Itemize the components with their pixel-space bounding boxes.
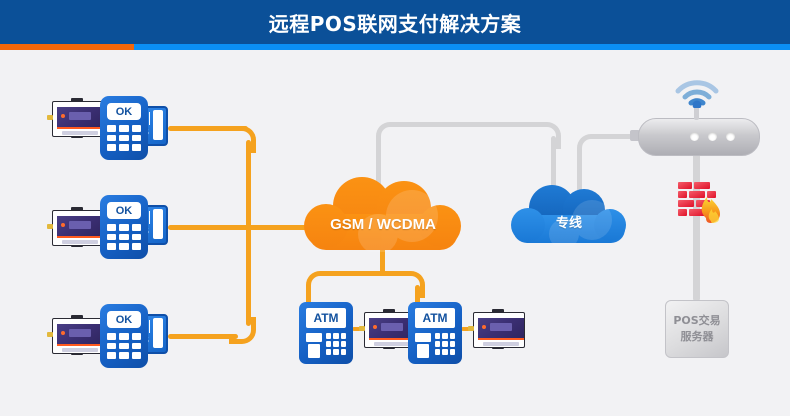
cloud-gsm-shape <box>300 176 466 252</box>
atm-keypad[interactable] <box>435 333 455 355</box>
atm-card-slot <box>415 333 431 342</box>
pos-terminal-1[interactable]: $ OK <box>100 96 148 160</box>
pos-keypad[interactable] <box>107 333 141 359</box>
dtu-device-3[interactable] <box>50 315 104 355</box>
router-led-2 <box>708 132 717 141</box>
cloud-dedicated-label: 专线 <box>508 212 630 231</box>
orange-trunk-vertical <box>246 140 251 326</box>
gray-elbow-right <box>534 122 561 149</box>
dtu-label-strip <box>483 342 519 346</box>
dtu-device-2[interactable] <box>50 207 104 247</box>
dtu-device-1[interactable] <box>50 98 104 138</box>
dtu-led <box>373 325 377 329</box>
dtu-antenna <box>47 115 53 120</box>
dtu-chip <box>490 323 512 331</box>
cloud-gsm-wcdma[interactable]: GSM / WCDMA <box>300 176 466 252</box>
atm-1[interactable]: ATM <box>299 302 353 364</box>
gray-line-top-horizontal <box>392 122 542 127</box>
pos-body: OK <box>100 96 148 160</box>
dtu-label-strip <box>62 240 98 244</box>
orange-line-atm-split <box>320 271 406 276</box>
dtu-led <box>482 325 486 329</box>
header-bar: 远程POS联网支付解决方案 <box>0 0 790 44</box>
dtu-chip <box>69 221 91 229</box>
dtu-plate <box>52 210 104 246</box>
pos-terminal-3[interactable]: $ OK <box>100 304 148 368</box>
dtu-led <box>61 223 65 227</box>
card-face <box>153 318 163 348</box>
firewall[interactable] <box>676 178 722 224</box>
dtu-plate <box>52 318 104 354</box>
atm-cash-dispenser <box>417 344 429 358</box>
cloud-dedicated-line[interactable]: 专线 <box>508 184 630 246</box>
page-title: 远程POS联网支付解决方案 <box>0 0 790 44</box>
dtu-accent-bar <box>57 344 103 346</box>
card-face <box>153 209 163 239</box>
pos-keypad[interactable] <box>107 125 141 151</box>
atm-body: ATM <box>408 302 462 364</box>
atm-cash-dispenser <box>308 344 320 358</box>
firewall-icon <box>676 178 728 228</box>
dtu-label-strip <box>62 131 98 135</box>
pos-screen-3: OK <box>107 311 141 328</box>
dtu-accent-bar <box>57 236 103 238</box>
dtu-chip <box>381 323 403 331</box>
dtu-chip <box>69 112 91 120</box>
router-led-1 <box>690 132 699 141</box>
orange-elbow-bottom <box>229 317 256 344</box>
atm-body: ATM <box>299 302 353 364</box>
dtu-antenna <box>468 326 474 331</box>
pos-body: OK <box>100 195 148 259</box>
cloud-gsm-label: GSM / WCDMA <box>300 216 466 233</box>
atm-keypad[interactable] <box>326 333 346 355</box>
pos-screen-2: OK <box>107 202 141 219</box>
dtu-label-strip <box>62 348 98 352</box>
pos-keypad[interactable] <box>107 224 141 250</box>
dtu-antenna <box>47 332 53 337</box>
atm-screen-2: ATM <box>415 308 455 328</box>
dtu-led <box>61 331 65 335</box>
atm-2[interactable]: ATM <box>408 302 462 364</box>
server-label-line2: 服务器 <box>681 329 714 345</box>
dtu-label-strip <box>374 342 410 346</box>
dtu-chip <box>69 329 91 337</box>
header-rule-orange <box>0 44 134 50</box>
dtu-device-5[interactable] <box>471 309 525 349</box>
server-label-line1: POS交易 <box>673 313 720 329</box>
wireless-router[interactable] <box>638 118 758 154</box>
dtu-led <box>61 114 65 118</box>
wifi-icon <box>672 78 722 108</box>
dtu-plate <box>473 312 525 348</box>
dtu-antenna <box>47 224 53 229</box>
atm-card-slot <box>306 333 322 342</box>
dtu-accent-bar <box>57 127 103 129</box>
orange-line-pos2-horizontal <box>168 225 251 230</box>
dtu-plate <box>52 101 104 137</box>
pos-transaction-server[interactable]: POS交易 服务器 <box>665 300 729 358</box>
pos-terminal-2[interactable]: $ OK <box>100 195 148 259</box>
dtu-antenna <box>359 326 365 331</box>
dtu-accent-bar <box>478 338 524 340</box>
card-face <box>153 110 163 140</box>
pos-body: OK <box>100 304 148 368</box>
router-body <box>638 118 760 156</box>
router-led-3 <box>726 132 735 141</box>
pos-screen-1: OK <box>107 103 141 120</box>
orange-line-pos3-horizontal <box>168 334 238 339</box>
atm-screen-1: ATM <box>306 308 346 328</box>
orange-elbow-top <box>229 126 256 153</box>
diagram-canvas: 远程POS联网支付解决方案 <box>0 0 790 416</box>
